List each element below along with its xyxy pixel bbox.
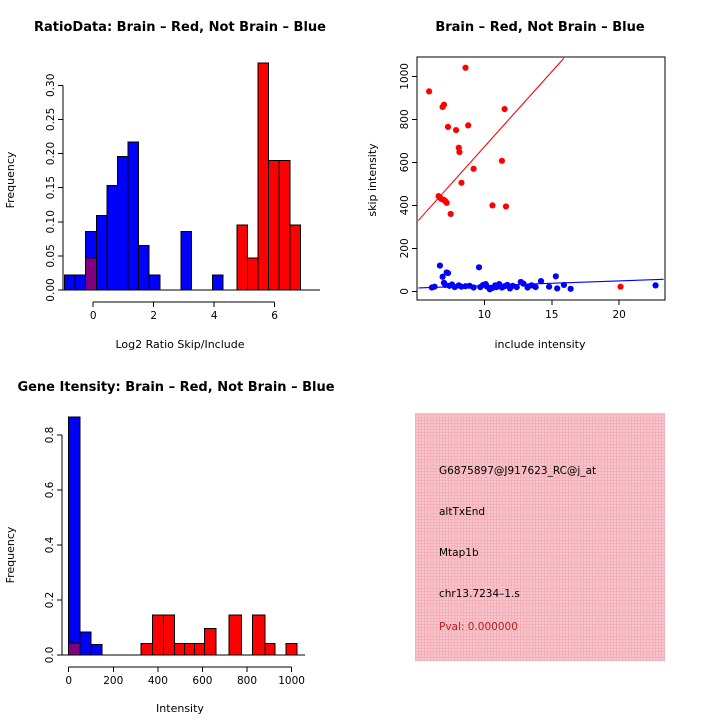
histogram-bar xyxy=(205,629,216,655)
gene-histogram-ylabel: Frequency xyxy=(4,526,17,583)
histogram-bar xyxy=(253,615,265,655)
gene-histogram-xlabel: Intensity xyxy=(156,702,204,715)
intensity-scatter-ylabel: skip intensity xyxy=(366,143,379,217)
gene-histogram-yaxis: 0.00.20.40.60.8 xyxy=(44,427,62,664)
x-tick-label: 400 xyxy=(148,675,168,687)
info-gene-symbol: Mtap1b xyxy=(439,547,479,559)
scatter-point xyxy=(465,122,471,128)
panel-gene-histogram: Gene Itensity: Brain – Red, Not Brain – … xyxy=(0,360,360,720)
histogram-bar xyxy=(152,615,163,655)
intensity-scatter-points xyxy=(418,58,663,292)
histogram-bar xyxy=(185,643,195,655)
y-tick-label: 0.4 xyxy=(44,536,56,553)
histogram-bar xyxy=(96,216,107,290)
scatter-point xyxy=(561,282,567,288)
histogram-bar xyxy=(229,615,241,655)
histogram-bar xyxy=(265,643,275,655)
panel-intensity-scatter: Brain – Red, Not Brain – Blue 0200400600… xyxy=(360,0,720,360)
y-tick-label: 0.30 xyxy=(45,74,57,97)
x-tick-label: 1000 xyxy=(278,675,305,687)
scatter-point xyxy=(554,285,560,291)
x-tick-label: 800 xyxy=(237,675,257,687)
scatter-point xyxy=(514,284,520,290)
histogram-bar xyxy=(247,258,258,290)
scatter-point xyxy=(441,102,447,108)
gene-histogram-title: Gene Itensity: Brain – Red, Not Brain – … xyxy=(17,380,334,395)
x-tick-label: 10 xyxy=(478,309,491,321)
gene-histogram-xaxis: 02004006008001000 xyxy=(62,655,305,687)
scatter-point xyxy=(502,106,508,112)
intensity-scatter-xaxis: 101520 xyxy=(478,300,626,321)
ratio-histogram-yaxis: 0.000.050.100.150.200.250.30 xyxy=(45,74,63,302)
histogram-bar xyxy=(80,632,91,655)
histogram-bar xyxy=(65,275,76,290)
histogram-bar xyxy=(117,156,128,290)
histogram-bar xyxy=(175,643,185,655)
scatter-point xyxy=(471,166,477,172)
y-tick-label: 600 xyxy=(399,152,411,172)
histogram-bar xyxy=(269,160,280,290)
y-tick-label: 0.0 xyxy=(44,647,56,664)
y-tick-label: 0.15 xyxy=(45,176,57,199)
intensity-scatter-svg: Brain – Red, Not Brain – Blue 0200400600… xyxy=(360,0,720,360)
scatter-point xyxy=(652,282,658,288)
scatter-point xyxy=(546,284,552,290)
scatter-point xyxy=(568,286,574,292)
scatter-point xyxy=(489,202,495,208)
gene-histogram-svg: Gene Itensity: Brain – Red, Not Brain – … xyxy=(0,360,360,720)
x-tick-label: 0 xyxy=(65,675,72,687)
x-tick-label: 4 xyxy=(211,310,218,322)
x-tick-label: 0 xyxy=(90,310,97,322)
panel-ratio-histogram: RatioData: Brain – Red, Not Brain – Blue… xyxy=(0,0,360,360)
ratio-histogram-bars xyxy=(65,63,301,290)
scatter-point xyxy=(499,158,505,164)
scatter-point xyxy=(426,88,432,94)
gene-histogram-bars xyxy=(69,417,298,655)
x-tick-label: 2 xyxy=(150,310,157,322)
histogram-bar xyxy=(69,417,80,655)
intensity-scatter-frame xyxy=(417,57,665,300)
x-tick-label: 600 xyxy=(192,675,212,687)
ratio-histogram-svg: RatioData: Brain – Red, Not Brain – Blue… xyxy=(0,0,360,360)
scatter-point xyxy=(444,200,450,206)
histogram-bar xyxy=(75,275,86,290)
histogram-bar xyxy=(139,246,150,290)
info-locus: chr13.7234–1.s xyxy=(439,588,520,600)
histogram-bar xyxy=(181,231,192,290)
intensity-scatter-title: Brain – Red, Not Brain – Blue xyxy=(435,20,644,35)
y-tick-label: 200 xyxy=(399,238,411,258)
ratio-histogram-ylabel: Frequency xyxy=(4,151,17,208)
histogram-bar xyxy=(128,142,139,290)
x-tick-label: 15 xyxy=(545,309,558,321)
y-tick-label: 800 xyxy=(399,109,411,129)
y-tick-label: 0 xyxy=(399,288,411,295)
scatter-point xyxy=(533,284,539,290)
y-tick-label: 0.00 xyxy=(45,278,57,301)
histogram-bar xyxy=(286,643,297,655)
scatter-point xyxy=(503,203,509,209)
y-tick-label: 0.20 xyxy=(45,142,57,165)
x-tick-label: 200 xyxy=(103,675,123,687)
histogram-bar xyxy=(141,643,152,655)
ratio-histogram-xlabel: Log2 Ratio Skip/Include xyxy=(115,338,244,351)
histogram-bar xyxy=(163,615,174,655)
ratio-histogram-title: RatioData: Brain – Red, Not Brain – Blue xyxy=(34,20,326,35)
y-tick-label: 0.05 xyxy=(45,244,57,267)
histogram-bar xyxy=(290,225,301,290)
scatter-point xyxy=(471,284,477,290)
intensity-scatter-xlabel: include intensity xyxy=(494,338,586,351)
histogram-bar xyxy=(213,275,224,290)
y-tick-label: 0.6 xyxy=(44,481,56,498)
histogram-bar xyxy=(195,643,205,655)
x-tick-label: 6 xyxy=(271,310,278,322)
info-pval: Pval: 0.000000 xyxy=(439,621,518,633)
scatter-point xyxy=(458,180,464,186)
histogram-bar xyxy=(258,63,269,290)
scatter-point xyxy=(453,127,459,133)
intensity-scatter-yaxis: 02004006008001000 xyxy=(399,63,417,295)
scatter-point xyxy=(538,278,544,284)
scatter-point xyxy=(476,264,482,270)
y-tick-label: 0.2 xyxy=(44,592,56,609)
histogram-bar xyxy=(107,186,118,290)
scatter-point xyxy=(456,149,462,155)
y-tick-label: 0.8 xyxy=(44,427,56,444)
panel-info: G6875897@J917623_RC@j_at altTxEnd Mtap1b… xyxy=(360,360,720,720)
info-panel-background: G6875897@J917623_RC@j_at altTxEnd Mtap1b… xyxy=(415,413,665,661)
histogram-bar xyxy=(69,643,80,655)
histogram-bar xyxy=(149,275,160,290)
scatter-point xyxy=(445,270,451,276)
scatter-point xyxy=(431,284,437,290)
info-event-type: altTxEnd xyxy=(439,506,485,518)
multi-panel-figure: RatioData: Brain – Red, Not Brain – Blue… xyxy=(0,0,720,720)
scatter-point xyxy=(553,273,559,279)
scatter-point xyxy=(445,124,451,130)
histogram-bar xyxy=(86,258,97,290)
info-probe-id: G6875897@J917623_RC@j_at xyxy=(439,465,596,477)
histogram-bar xyxy=(237,225,248,290)
scatter-point xyxy=(617,284,623,290)
histogram-bar xyxy=(279,160,290,290)
y-tick-label: 0.10 xyxy=(45,210,57,233)
x-tick-label: 20 xyxy=(612,309,625,321)
plot-box xyxy=(417,57,665,300)
ratio-histogram-xaxis: 0246 xyxy=(63,290,320,322)
scatter-point xyxy=(448,211,454,217)
scatter-point xyxy=(462,65,468,71)
histogram-bar xyxy=(91,645,102,655)
scatter-point xyxy=(437,262,443,268)
y-tick-label: 0.25 xyxy=(45,108,57,131)
y-tick-label: 400 xyxy=(399,195,411,215)
y-tick-label: 1000 xyxy=(399,63,411,90)
